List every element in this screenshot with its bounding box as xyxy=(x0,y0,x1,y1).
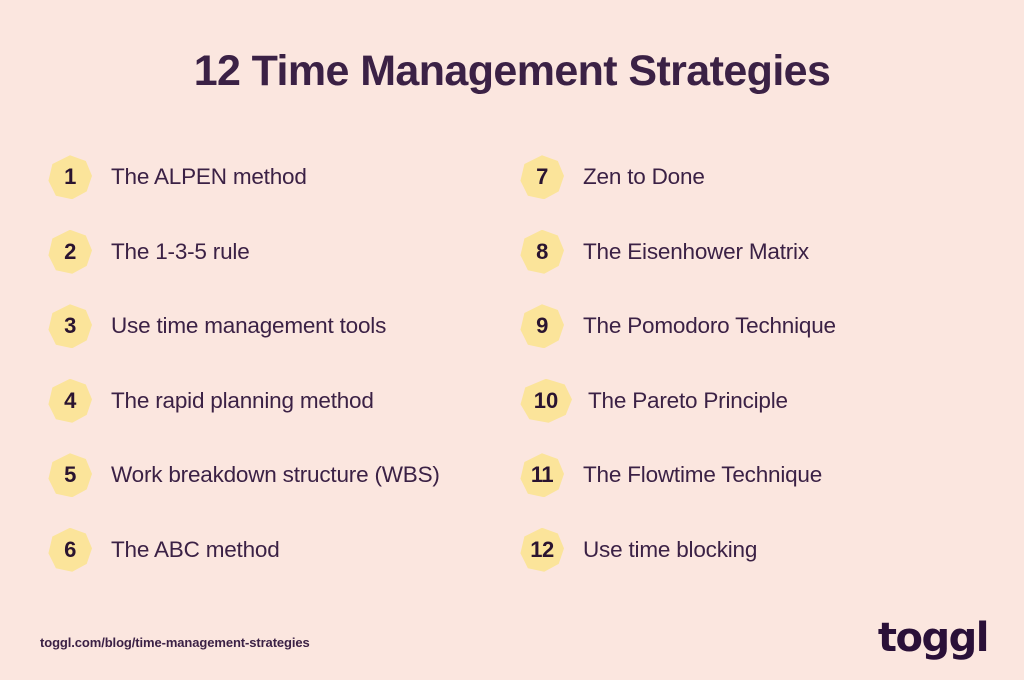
number-badge: 2 xyxy=(48,230,92,274)
number-badge: 11 xyxy=(520,453,564,497)
badge-number: 1 xyxy=(64,166,76,188)
source-url: toggl.com/blog/time-management-strategie… xyxy=(40,635,310,650)
strategy-label: Use time blocking xyxy=(583,537,757,563)
list-item: 6 The ABC method xyxy=(48,513,512,588)
strategy-label: The ALPEN method xyxy=(111,164,307,190)
strategy-label: The rapid planning method xyxy=(111,388,374,414)
toggl-logo: toggl xyxy=(878,618,988,658)
strategy-label: The Eisenhower Matrix xyxy=(583,239,809,265)
badge-number: 4 xyxy=(64,390,76,412)
list-item: 8 The Eisenhower Matrix xyxy=(520,215,1024,290)
strategy-label: Zen to Done xyxy=(583,164,705,190)
badge-number: 9 xyxy=(536,315,548,337)
badge-number: 10 xyxy=(534,390,558,412)
badge-number: 8 xyxy=(536,241,548,263)
strategy-label: The ABC method xyxy=(111,537,280,563)
list-item: 2 The 1-3-5 rule xyxy=(48,215,512,290)
list-item: 7 Zen to Done xyxy=(520,140,1024,215)
list-item: 3 Use time management tools xyxy=(48,289,512,364)
strategy-column-left: 1 The ALPEN method 2 The 1-3-5 rule 3 Us… xyxy=(0,140,512,587)
list-item: 4 The rapid planning method xyxy=(48,364,512,439)
strategy-label: The Flowtime Technique xyxy=(583,462,822,488)
number-badge: 9 xyxy=(520,304,564,348)
list-item: 12 Use time blocking xyxy=(520,513,1024,588)
strategy-label: The Pareto Principle xyxy=(588,388,788,414)
badge-number: 12 xyxy=(530,539,553,561)
badge-number: 3 xyxy=(64,315,76,337)
strategy-label: The Pomodoro Technique xyxy=(583,313,836,339)
strategy-label: The 1-3-5 rule xyxy=(111,239,250,265)
number-badge: 10 xyxy=(520,379,572,423)
number-badge: 12 xyxy=(520,528,564,572)
badge-number: 2 xyxy=(64,241,76,263)
strategy-label: Use time management tools xyxy=(111,313,386,339)
page-title: 12 Time Management Strategies xyxy=(0,48,1024,95)
list-item: 11 The Flowtime Technique xyxy=(520,438,1024,513)
list-item: 1 The ALPEN method xyxy=(48,140,512,215)
number-badge: 6 xyxy=(48,528,92,572)
number-badge: 7 xyxy=(520,155,564,199)
strategy-column-right: 7 Zen to Done 8 The Eisenhower Matrix 9 … xyxy=(512,140,1024,587)
badge-number: 5 xyxy=(64,464,76,486)
list-item: 10 The Pareto Principle xyxy=(520,364,1024,439)
list-item: 9 The Pomodoro Technique xyxy=(520,289,1024,364)
number-badge: 5 xyxy=(48,453,92,497)
number-badge: 3 xyxy=(48,304,92,348)
strategy-label: Work breakdown structure (WBS) xyxy=(111,462,440,488)
infographic-poster: 12 Time Management Strategies 1 The ALPE… xyxy=(0,0,1024,680)
number-badge: 8 xyxy=(520,230,564,274)
number-badge: 4 xyxy=(48,379,92,423)
number-badge: 1 xyxy=(48,155,92,199)
badge-number: 6 xyxy=(64,539,76,561)
badge-number: 7 xyxy=(536,166,548,188)
list-item: 5 Work breakdown structure (WBS) xyxy=(48,438,512,513)
badge-number: 11 xyxy=(531,464,553,486)
strategy-columns: 1 The ALPEN method 2 The 1-3-5 rule 3 Us… xyxy=(0,140,1024,587)
